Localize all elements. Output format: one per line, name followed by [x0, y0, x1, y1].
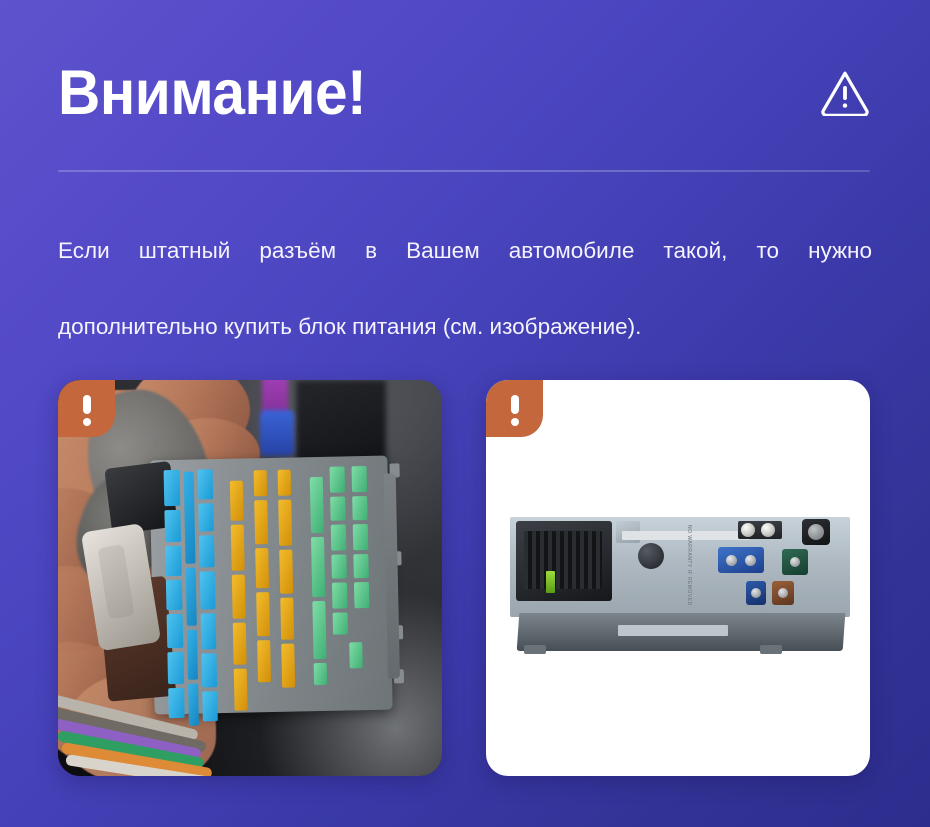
- wire-loom: [58, 672, 278, 776]
- fakra-pin: [790, 557, 800, 567]
- pin-column-green-d: [349, 642, 363, 668]
- fakra-connector-blue-double: [718, 547, 764, 573]
- module-foot: [760, 645, 782, 654]
- fakra-pin: [751, 588, 761, 598]
- notice-line-1: Если штатный разъём в Вашем автомобиле т…: [58, 232, 872, 308]
- exclamation-icon: [83, 395, 91, 414]
- stock-connector-card[interactable]: Штатный разъём автомобиля в руке — серый…: [58, 380, 442, 776]
- power-supply-card[interactable]: NO WARRANTY IF REMOVED: [486, 380, 870, 776]
- module-side-text: NO WARRANTY IF REMOVED: [686, 525, 692, 606]
- page-header: Внимание!: [58, 48, 870, 138]
- pin-column-green-c: [352, 466, 370, 608]
- housing-notch: [389, 463, 399, 477]
- pin-column-yellow-b: [254, 470, 271, 682]
- round-knob: [638, 543, 664, 569]
- warning-badge: [486, 380, 543, 437]
- pin-column-green-a: [310, 477, 327, 685]
- power-supply-module: NO WARRANTY IF REMOVED: [510, 517, 850, 652]
- housing-notch: [391, 551, 401, 565]
- notice-line-2: дополнительно купить блок питания (см. и…: [58, 308, 872, 346]
- notice-paragraph: Если штатный разъём в Вашем автомобиле т…: [58, 232, 872, 346]
- page-title: Внимание!: [58, 62, 366, 125]
- rca-jack: [741, 523, 755, 537]
- fakra-pin: [745, 555, 756, 566]
- pin-column-green-b: [330, 466, 349, 634]
- black-round-connector: [802, 519, 830, 545]
- exclamation-icon: [511, 395, 519, 414]
- rca-jack: [761, 523, 775, 537]
- fakra-pin: [778, 588, 788, 598]
- pin-column-yellow-c: [278, 470, 296, 688]
- black-connector-block: [516, 521, 612, 601]
- module-bottom-label: [618, 625, 728, 636]
- housing-notch: [393, 625, 403, 639]
- warning-triangle-icon: [820, 70, 870, 116]
- module-foot: [524, 645, 546, 654]
- green-fuse: [546, 571, 555, 593]
- power-supply-photo: NO WARRANTY IF REMOVED: [486, 380, 870, 776]
- image-card-row: Штатный разъём автомобиля в руке — серый…: [58, 380, 870, 776]
- warning-badge: [58, 380, 115, 437]
- fakra-connector-blue-small: [746, 581, 766, 605]
- fakra-pin: [726, 555, 737, 566]
- fakra-connector-brown: [772, 581, 794, 605]
- header-divider: [58, 170, 870, 172]
- rca-jack-pair: [738, 521, 782, 539]
- exclamation-dot: [511, 418, 519, 426]
- stock-connector-photo: [58, 380, 442, 776]
- exclamation-dot: [83, 418, 91, 426]
- fakra-connector-green: [782, 549, 808, 575]
- housing-notch: [394, 669, 404, 683]
